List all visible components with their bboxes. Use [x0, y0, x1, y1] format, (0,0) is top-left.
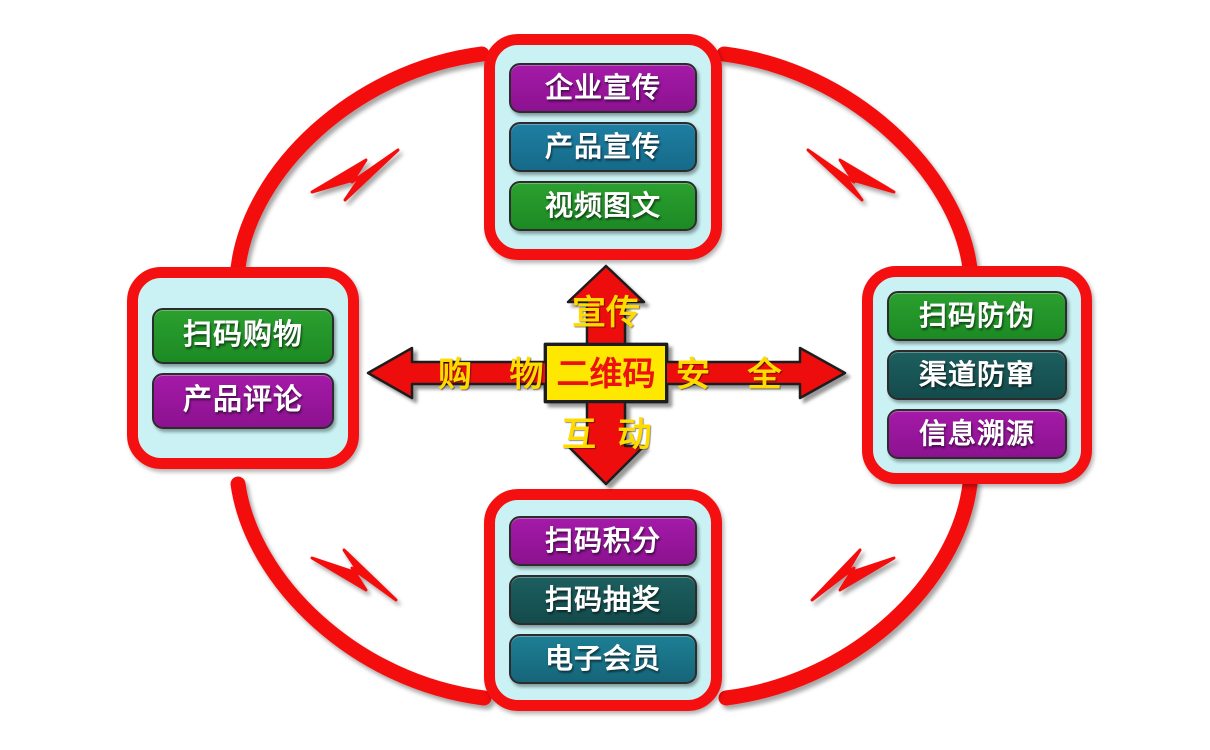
chip-video-graphics[interactable]: 视频图文: [509, 181, 697, 231]
chip-label: 视频图文: [545, 192, 661, 220]
cross-label-security: 安 全: [662, 358, 790, 392]
ring-arc-upper-left: [238, 54, 482, 268]
panel-right-security[interactable]: 扫码防伪 渠道防窜 信息溯源: [862, 266, 1092, 484]
ring-arc-upper-right: [724, 54, 970, 268]
chip-label: 产品宣传: [545, 133, 661, 161]
chip-channel-antidiversion[interactable]: 渠道防窜: [887, 350, 1067, 400]
chip-label: 企业宣传: [545, 74, 661, 102]
panel-bottom-interaction[interactable]: 扫码积分 扫码抽奖 电子会员: [484, 489, 722, 711]
chip-label: 产品评论: [183, 386, 303, 415]
chip-enterprise-promotion[interactable]: 企业宣传: [509, 63, 697, 113]
chip-label: 电子会员: [545, 645, 661, 673]
center-core-label: 二维码: [557, 357, 656, 390]
panel-left-shopping[interactable]: 扫码购物 产品评论: [127, 267, 359, 469]
chip-label: 渠道防窜: [919, 361, 1035, 389]
ring-arc-lower-left: [238, 484, 484, 698]
center-core-qrcode[interactable]: 二维码: [545, 344, 667, 402]
chip-label: 扫码积分: [545, 527, 661, 555]
chip-label: 扫码购物: [183, 321, 303, 350]
chip-label: 扫码抽奖: [545, 586, 661, 614]
chip-product-review[interactable]: 产品评论: [152, 373, 334, 429]
chip-scan-shopping[interactable]: 扫码购物: [152, 308, 334, 364]
cross-label-promotion: 宣传: [560, 296, 652, 330]
chip-scan-points[interactable]: 扫码积分: [509, 516, 697, 566]
chip-scan-anticounterfeit[interactable]: 扫码防伪: [887, 291, 1067, 341]
chip-label: 扫码防伪: [919, 302, 1035, 330]
cross-label-shopping: 购 物: [424, 358, 552, 392]
chip-information-traceability[interactable]: 信息溯源: [887, 409, 1067, 459]
chip-electronic-membership[interactable]: 电子会员: [509, 634, 697, 684]
chip-label: 信息溯源: [919, 420, 1035, 448]
chip-scan-lottery[interactable]: 扫码抽奖: [509, 575, 697, 625]
cross-label-interaction: 互 动: [556, 418, 656, 452]
diagram-canvas: 企业宣传 产品宣传 视频图文 扫码防伪 渠道防窜 信息溯源 扫码积分 扫码抽奖 …: [0, 0, 1210, 750]
ring-arc-lower-right: [726, 484, 970, 698]
chip-product-promotion[interactable]: 产品宣传: [509, 122, 697, 172]
panel-top-promotion[interactable]: 企业宣传 产品宣传 视频图文: [484, 34, 722, 260]
